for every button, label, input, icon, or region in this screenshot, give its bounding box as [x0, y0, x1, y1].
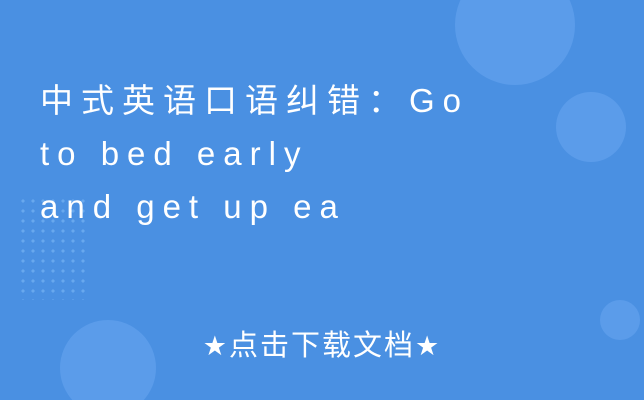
star-icon-right: ★: [415, 331, 441, 361]
download-document-button[interactable]: ★点击下载文档★: [0, 322, 644, 364]
title-line-1: 中式英语口语纠错：Go: [40, 74, 604, 127]
banner-title: 中式英语口语纠错：Go to bed early and get up ea: [0, 74, 644, 233]
download-document-label: 点击下载文档: [229, 330, 415, 362]
title-line-2: to bed early: [40, 127, 604, 180]
title-line-3: and get up ea: [40, 180, 604, 233]
star-icon-left: ★: [203, 331, 229, 361]
decorative-circle: [455, 0, 575, 85]
promo-banner: 中式英语口语纠错：Go to bed early and get up ea ★…: [0, 0, 644, 400]
